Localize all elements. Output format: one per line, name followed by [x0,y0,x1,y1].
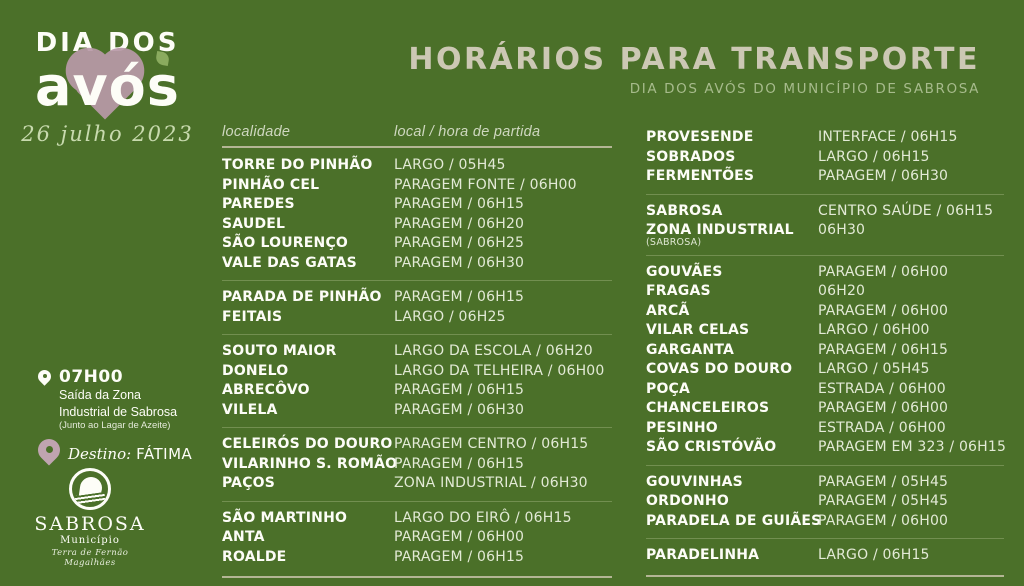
table-row: SABROSACENTRO SAÚDE / 06H15 [646,202,1004,222]
cell-local-hora: ZONA INDUSTRIAL / 06H30 [394,474,588,494]
table-row: GOUVINHASPARAGEM / 05H45 [646,473,1004,493]
cell-localidade: SABROSA [646,202,818,222]
group-divider [646,194,1004,195]
table-row: PAREDESPARAGEM / 06H15 [222,195,612,215]
table-row: COVAS DO DOUROLARGO / 05H45 [646,360,1004,380]
group-divider [222,334,612,335]
cell-localidade: PINHÃO CEL [222,176,394,196]
cell-localidade: CHANCELEIROS [646,399,818,419]
cell-localidade: PAREDES [222,195,394,215]
cell-localidade: ANTA [222,528,394,548]
cell-local-hora: INTERFACE / 06H15 [818,128,958,148]
table-top-rule [222,146,612,148]
schedule-group: TORRE DO PINHÃOLARGO / 05H45PINHÃO CELPA… [222,156,612,273]
cell-localidade: SAUDEL [222,215,394,235]
cell-local-hora: LARGO / 05H45 [818,360,930,380]
cell-localidade: VALE DAS GATAS [222,254,394,274]
table-row: PAÇOSZONA INDUSTRIAL / 06H30 [222,474,612,494]
cell-local-hora: LARGO / 06H00 [818,321,930,341]
right-groups: PROVESENDEINTERFACE / 06H15SOBRADOSLARGO… [646,128,1004,577]
cell-localidade: ARCÃ [646,302,818,322]
column-header-local-hora: local / hora de partida [394,124,540,140]
cell-localidade: VILAR CELAS [646,321,818,341]
table-row: PROVESENDEINTERFACE / 06H15 [646,128,1004,148]
cell-localidade: PARADELINHA [646,546,818,566]
cell-localidade: PARADELA DE GUIÃES [646,512,818,532]
cell-localidade: TORRE DO PINHÃO [222,156,394,176]
cell-local-hora: LARGO / 05H45 [394,156,506,176]
table-row: SOBRADOSLARGO / 06H15 [646,148,1004,168]
table-row: ANTAPARAGEM / 06H00 [222,528,612,548]
departure-place-line-2: Industrial de Sabrosa [59,405,177,421]
header: HORÁRIOS PARA TRANSPORTE DIA DOS AVÓS DO… [408,42,980,97]
cell-local-hora: PARAGEM / 06H30 [394,401,524,421]
cell-local-hora: LARGO / 06H15 [818,546,930,566]
cell-localidade: GARGANTA [646,341,818,361]
cell-local-hora: PARAGEM / 06H25 [394,234,524,254]
table-row: GOUVÃESPARAGEM / 06H00 [646,263,1004,283]
cell-localidade: FEITAIS [222,308,394,328]
table-row: VILELAPARAGEM / 06H30 [222,401,612,421]
table-row: SÃO LOURENÇOPARAGEM / 06H25 [222,234,612,254]
cell-localidade: GOUVINHAS [646,473,818,493]
table-row: PARADELA DE GUIÃESPARAGEM / 06H00 [646,512,1004,532]
table-header-row: localidade local / hora de partida [222,124,612,144]
destination-value: FÁTIMA [136,445,192,463]
table-row: PARADA DE PINHÃOPARAGEM / 06H15 [222,288,612,308]
table-row: ABRECÔVOPARAGEM / 06H15 [222,381,612,401]
group-divider [222,280,612,281]
schedule-group: PARADELINHALARGO / 06H15 [646,546,1004,566]
cell-local-hora: PARAGEM / 06H00 [818,302,948,322]
table-row: DONELOLARGO DA TELHEIRA / 06H00 [222,362,612,382]
cell-localidade: PARADA DE PINHÃO [222,288,394,308]
departure-place-note: (Junto ao Lagar de Azeite) [59,420,177,431]
cell-local-hora: PARAGEM / 06H20 [394,215,524,235]
cell-local-hora: PARAGEM FONTE / 06H00 [394,176,577,196]
cell-local-hora: LARGO / 06H15 [818,148,930,168]
destination-pin-icon [38,439,60,469]
schedule-table-left: localidade local / hora de partida TORRE… [222,124,612,586]
table-row: GARGANTAPARAGEM / 06H15 [646,341,1004,361]
cell-local-hora: PARAGEM EM 323 / 06H15 [818,438,1006,458]
departure-time: 07H00 [59,367,123,387]
municipality-tagline: Terra de Fernão Magalhães [30,548,150,568]
cell-local-hora: LARGO DA ESCOLA / 06H20 [394,342,593,362]
cell-local-hora: PARAGEM / 06H15 [394,455,524,475]
table-row: PINHÃO CELPARAGEM FONTE / 06H00 [222,176,612,196]
map-pin-icon [38,370,51,388]
cell-localidade: ROALDE [222,548,394,568]
group-divider [646,255,1004,256]
departure-place-line-1: Saída da Zona [59,388,177,404]
cell-localidade: DONELO [222,362,394,382]
table-row: CHANCELEIROSPARAGEM / 06H00 [646,399,1004,419]
cell-local-hora: PARAGEM / 06H15 [394,195,524,215]
cell-local-hora: PARAGEM CENTRO / 06H15 [394,435,588,455]
table-row: ROALDEPARAGEM / 06H15 [222,548,612,568]
cell-local-hora: LARGO DO EIRÔ / 06H15 [394,509,572,529]
schedule-group: PARADA DE PINHÃOPARAGEM / 06H15FEITAISLA… [222,288,612,327]
schedule-table-right: PROVESENDEINTERFACE / 06H15SOBRADOSLARGO… [646,128,1004,585]
cell-local-hora: 06H20 [818,282,865,302]
dia-dos-avos-logo: DIA DOS avós 26 julho 2023 [13,30,203,146]
logo-line-2: avós [13,58,203,116]
cell-localidade: SÃO LOURENÇO [222,234,394,254]
cell-localidade: ABRECÔVO [222,381,394,401]
cell-localidade: PAÇOS [222,474,394,494]
cell-local-hora: PARAGEM / 06H15 [394,288,524,308]
municipality-logo: SABROSA Município Terra de Fernão Magalh… [30,468,150,568]
group-divider [222,501,612,502]
table-bottom-rule [222,576,612,578]
left-groups: TORRE DO PINHÃOLARGO / 05H45PINHÃO CELPA… [222,156,612,578]
cell-local-hora: PARAGEM / 06H00 [394,528,524,548]
table-row: ORDONHOPARAGEM / 05H45 [646,492,1004,512]
logo-date: 26 julho 2023 [13,122,203,146]
cell-localidade: GOUVÃES [646,263,818,283]
cell-localidade: POÇA [646,380,818,400]
cell-localidade: PROVESENDE [646,128,818,148]
schedule-group: SOUTO MAIORLARGO DA ESCOLA / 06H20DONELO… [222,342,612,420]
cell-localidade: VILELA [222,401,394,421]
cell-local-hora: PARAGEM / 06H15 [394,548,524,568]
cell-local-hora: LARGO DA TELHEIRA / 06H00 [394,362,605,382]
cell-local-hora: PARAGEM / 06H00 [818,263,948,283]
schedule-group: PROVESENDEINTERFACE / 06H15SOBRADOSLARGO… [646,128,1004,187]
left-panel: DIA DOS avós 26 julho 2023 07H00 Saída d… [0,0,215,576]
cell-local-hora: PARAGEM / 06H30 [394,254,524,274]
table-row: TORRE DO PINHÃOLARGO / 05H45 [222,156,612,176]
table-row: FRAGAS06H20 [646,282,1004,302]
schedule-group: SABROSACENTRO SAÚDE / 06H15ZONA INDUSTRI… [646,202,1004,248]
municipality-name: SABROSA [30,514,150,535]
cell-localidade: SOUTO MAIOR [222,342,394,362]
table-row: VALE DAS GATASPARAGEM / 06H30 [222,254,612,274]
group-divider [646,538,1004,539]
cell-local-hora: 06H30 [818,221,865,241]
cell-local-hora: PARAGEM / 06H00 [818,512,948,532]
destination-label: Destino: [68,445,131,463]
cell-localidade: COVAS DO DOURO [646,360,818,380]
cell-localidade: CELEIRÓS DO DOURO [222,435,394,455]
departure-destination: Destino: FÁTIMA [38,439,213,469]
cell-localidade: FERMENTÕES [646,167,818,187]
schedule-group: GOUVÃESPARAGEM / 06H00FRAGAS06H20ARCÃPAR… [646,263,1004,458]
group-divider [646,465,1004,466]
cell-local-hora: ESTRADA / 06H00 [818,380,946,400]
cell-local-hora: ESTRADA / 06H00 [818,419,946,439]
cell-local-hora: PARAGEM / 06H00 [818,399,948,419]
table-row: ARCÃPARAGEM / 06H00 [646,302,1004,322]
schedule-group: GOUVINHASPARAGEM / 05H45ORDONHOPARAGEM /… [646,473,1004,532]
table-row: SÃO MARTINHOLARGO DO EIRÔ / 06H15 [222,509,612,529]
table-row: CELEIRÓS DO DOUROPARAGEM CENTRO / 06H15 [222,435,612,455]
cell-local-hora: CENTRO SAÚDE / 06H15 [818,202,993,222]
cell-local-hora: PARAGEM / 06H15 [394,381,524,401]
cell-local-hora: PARAGEM / 05H45 [818,492,948,512]
cell-localidade: SÃO MARTINHO [222,509,394,529]
table-row: PESINHOESTRADA / 06H00 [646,419,1004,439]
cell-local-hora: PARAGEM / 06H30 [818,167,948,187]
table-row: FEITAISLARGO / 06H25 [222,308,612,328]
table-row: SAUDELPARAGEM / 06H20 [222,215,612,235]
table-row: SOUTO MAIORLARGO DA ESCOLA / 06H20 [222,342,612,362]
cell-localidade: SOBRADOS [646,148,818,168]
cell-localidade: FRAGAS [646,282,818,302]
group-divider [222,427,612,428]
cell-localidade: PESINHO [646,419,818,439]
page-subtitle: DIA DOS AVÓS DO MUNICÍPIO DE SABROSA [408,81,980,97]
table-row: POÇAESTRADA / 06H00 [646,380,1004,400]
table-row: VILAR CELASLARGO / 06H00 [646,321,1004,341]
table-row: VILARINHO S. ROMÃOPARAGEM / 06H15 [222,455,612,475]
cell-localidade: VILARINHO S. ROMÃO [222,455,394,475]
schedule-group: CELEIRÓS DO DOUROPARAGEM CENTRO / 06H15V… [222,435,612,494]
logo-line-2-wrap: avós [13,58,203,116]
departure-origin: 07H00 Saída da Zona Industrial de Sabros… [38,368,213,432]
municipality-sub: Município [30,535,150,546]
departure-info: 07H00 Saída da Zona Industrial de Sabros… [38,368,213,469]
schedule-group: SÃO MARTINHOLARGO DO EIRÔ / 06H15ANTAPAR… [222,509,612,568]
cell-localidade: SÃO CRISTÓVÃO [646,438,818,458]
page-title: HORÁRIOS PARA TRANSPORTE [408,42,980,77]
departure-text: 07H00 Saída da Zona Industrial de Sabros… [59,368,177,432]
cell-local-hora: PARAGEM / 05H45 [818,473,948,493]
column-header-localidade: localidade [222,124,394,140]
cell-local-hora: LARGO / 06H25 [394,308,506,328]
sabrosa-emblem-icon [69,468,111,510]
table-row: FERMENTÕESPARAGEM / 06H30 [646,167,1004,187]
table-row: SÃO CRISTÓVÃOPARAGEM EM 323 / 06H15 [646,438,1004,458]
cell-local-hora: PARAGEM / 06H15 [818,341,948,361]
table-row: PARADELINHALARGO / 06H15 [646,546,1004,566]
cell-localidade: ORDONHO [646,492,818,512]
